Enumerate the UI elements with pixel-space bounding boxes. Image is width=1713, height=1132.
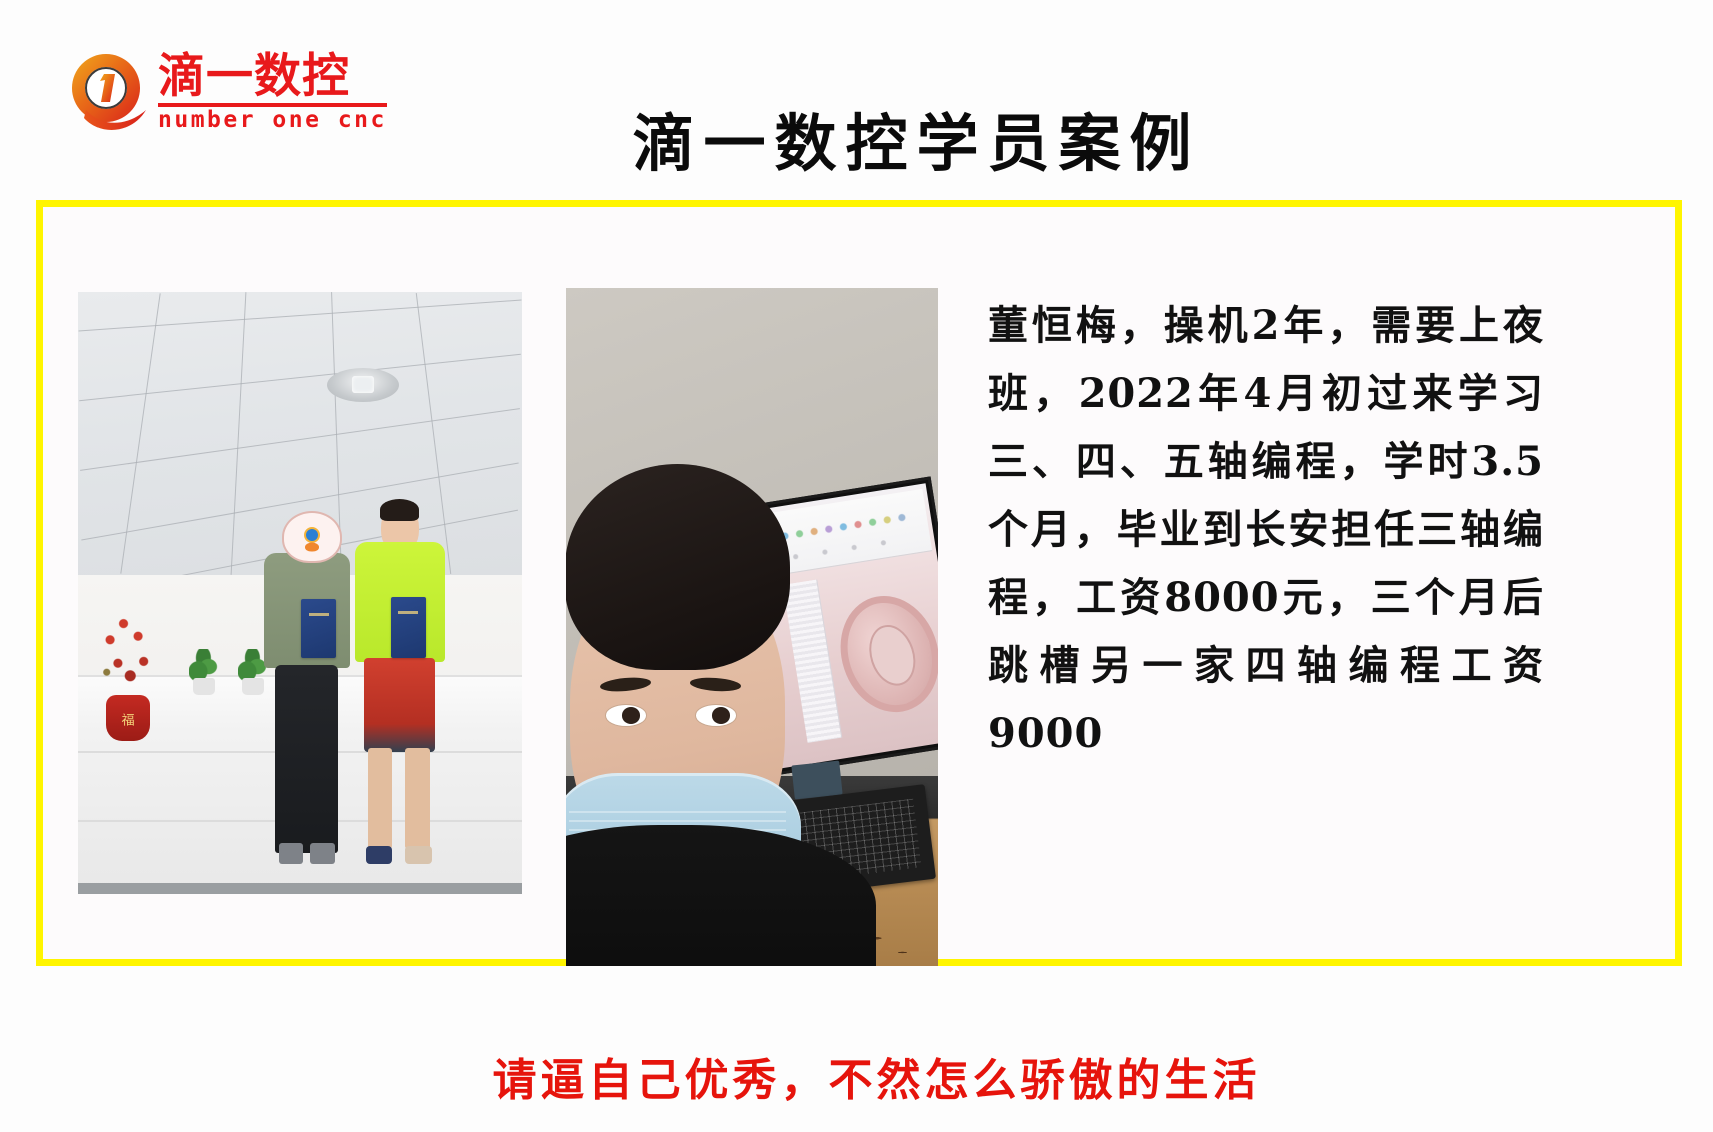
eye-left — [605, 704, 648, 727]
potted-plant-left — [189, 649, 219, 695]
eye-right — [695, 704, 738, 727]
floor — [78, 883, 522, 894]
cad-3d-model-ring — [826, 583, 938, 725]
graduation-certificate-left — [301, 599, 336, 658]
vase-body — [106, 695, 150, 741]
student-selfie-portrait — [566, 464, 812, 966]
page-title: 滴一数控学员案例 — [0, 108, 1713, 179]
brand-name-cn: 滴一数控 — [158, 53, 387, 100]
eyebrow-left — [600, 676, 652, 693]
graduation-photo: 市滴一数控技术有限公司 滴一数控 致力改变中国数控行业技术保守现象 让天下没有难… — [78, 292, 522, 894]
work-photo — [566, 288, 938, 966]
cat-sticker-face-mask-icon — [282, 511, 342, 563]
red-blossoms — [100, 611, 156, 701]
student-left — [260, 515, 353, 864]
eyebrow-right — [690, 677, 742, 693]
student-case-description: 董恒梅，操机2年，需要上夜班，2022年4月初过来学习三、四、五轴编程，学时3.… — [988, 292, 1544, 768]
ceiling-lamp-icon — [327, 368, 399, 402]
flower-vase — [100, 611, 156, 741]
student-right — [353, 503, 446, 864]
footer-slogan: 请逼自己优秀，不然怎么骄傲的生活 — [0, 1044, 1713, 1108]
hair — [566, 464, 790, 670]
graduation-certificate-right — [391, 597, 426, 658]
brand-divider — [158, 103, 387, 107]
